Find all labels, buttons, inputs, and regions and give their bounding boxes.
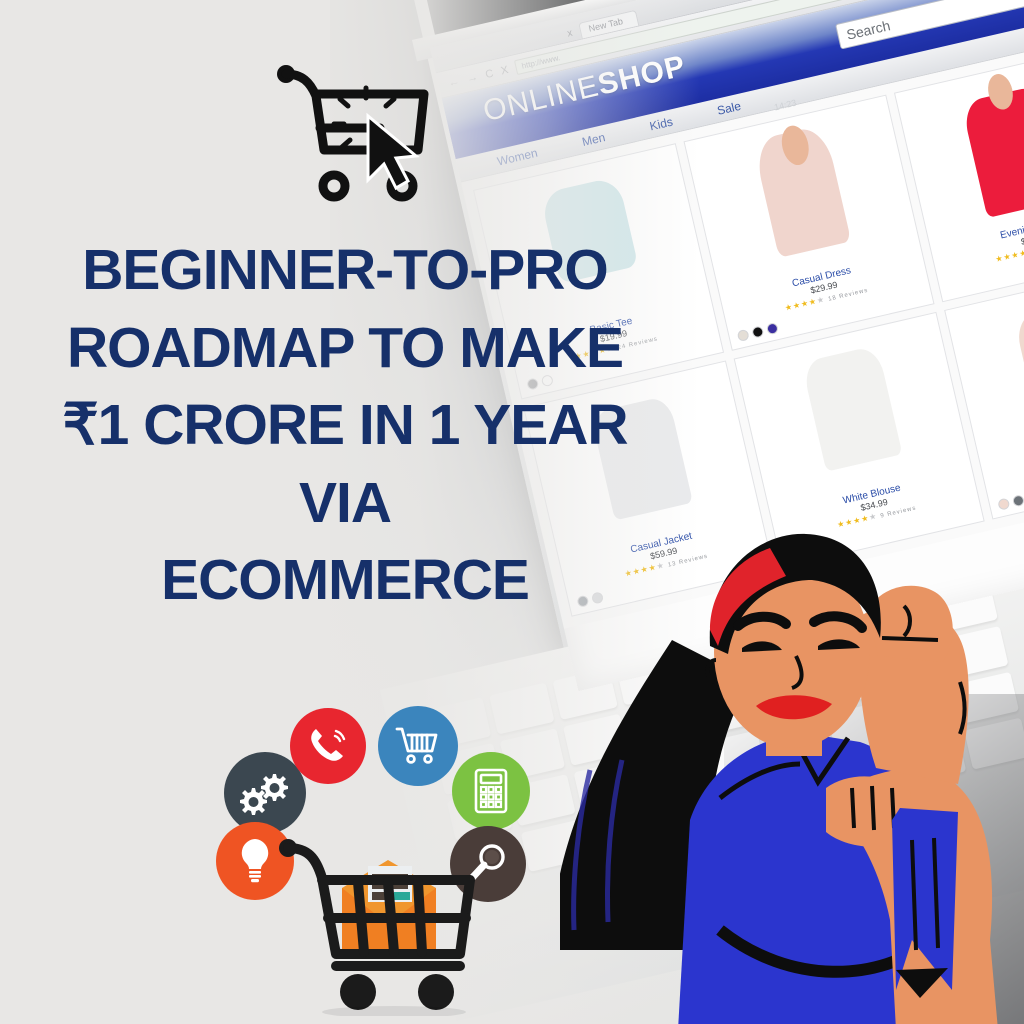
swatch[interactable]: [766, 322, 779, 335]
gears-icon: [224, 752, 306, 834]
cart-wheel: [340, 974, 376, 1010]
swatch[interactable]: [1012, 494, 1024, 507]
poster-canvas: x New Tab ← → C X http://www. http://www…: [0, 0, 1024, 1024]
shopping-cart-icon: [378, 706, 458, 786]
color-swatches[interactable]: [737, 322, 779, 342]
phone-icon: [290, 708, 366, 784]
color-swatches[interactable]: [997, 494, 1024, 511]
calculator-icon: [452, 752, 530, 830]
title-line-3: ₹1 CRORE IN 1 YEAR: [0, 387, 690, 465]
ecommerce-icon-cluster: [212, 700, 542, 1020]
product-card[interactable]: Casual Dress $29.99 ★★★★★ 18 Reviews: [684, 95, 935, 351]
swatch[interactable]: [737, 329, 750, 342]
shopping-cart-click-icon: [268, 58, 443, 213]
cart-wheel: [418, 974, 454, 1010]
title-line-1: BEGINNER-TO-PRO: [0, 232, 690, 310]
nav-item-sale[interactable]: Sale: [716, 98, 743, 117]
product-reviews: 9 Reviews: [880, 505, 917, 519]
flexing-woman-illustration: [560, 520, 1024, 1024]
title-line-2: ROADMAP TO MAKE: [0, 310, 690, 388]
swatch[interactable]: [997, 498, 1010, 511]
cart-with-package-icon: [270, 826, 500, 1016]
swatch[interactable]: [751, 325, 764, 338]
